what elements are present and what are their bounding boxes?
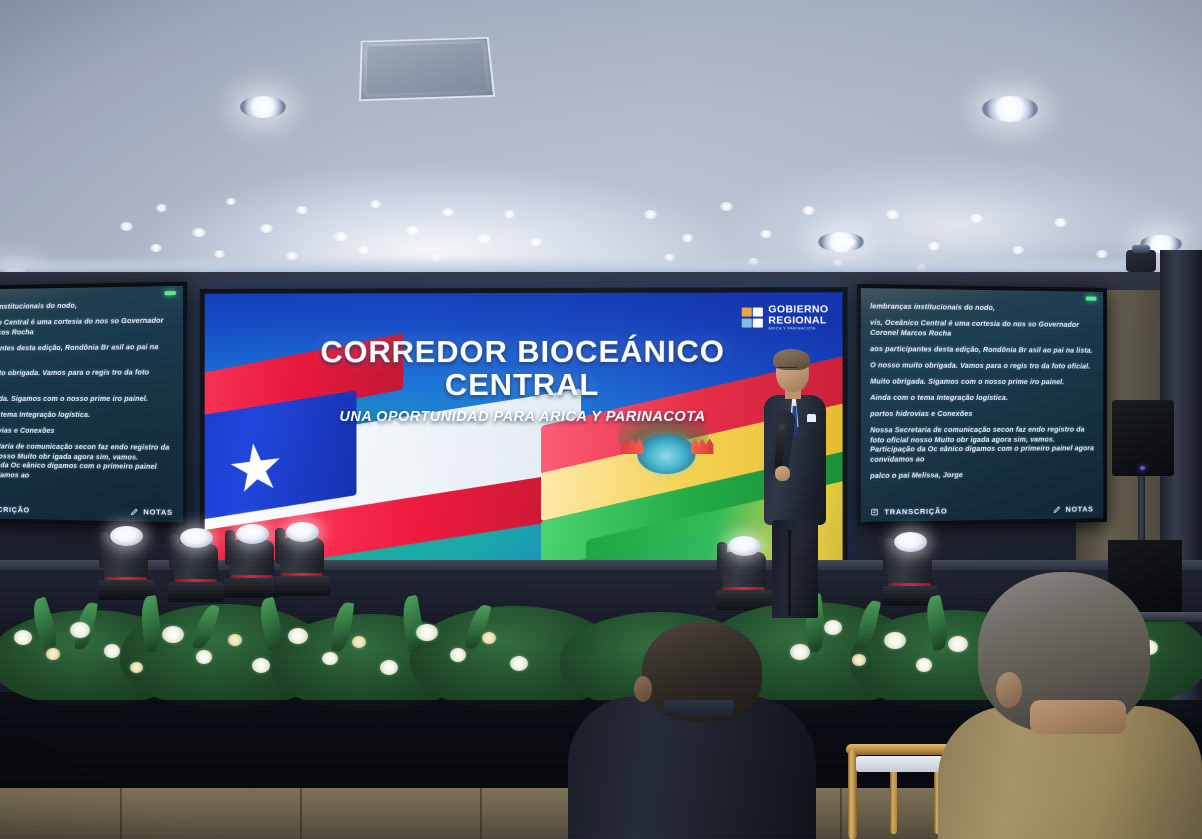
transcript-paragraph: aos participantes desta edição, Rondônia… bbox=[0, 343, 175, 364]
notes-button[interactable]: NOTAS bbox=[1053, 504, 1094, 513]
notes-label: NOTAS bbox=[143, 507, 172, 517]
transcript-paragraph: Ainda com o tema Integração logística. bbox=[0, 411, 175, 421]
transcription-screen-left[interactable]: lembranças institucionais do nodo, vis, … bbox=[0, 282, 187, 527]
moving-head-light bbox=[166, 526, 226, 602]
recording-indicator bbox=[1086, 297, 1097, 301]
logo-line2: REGIONAL bbox=[768, 315, 828, 326]
transcript-paragraph: O nosso muito obrigada. Vamos para o reg… bbox=[0, 369, 175, 389]
transcript-paragraph: lembranças institucionais do nodo, bbox=[0, 300, 175, 313]
audience-ear bbox=[996, 672, 1022, 708]
transcript-paragraph: vis, Oceânico Central é uma cortesia do … bbox=[0, 317, 175, 339]
presenter-pocket-square bbox=[807, 414, 816, 422]
audience-neck bbox=[1030, 700, 1126, 734]
conference-hall-scene: lembranças institucionais do nodo, vis, … bbox=[0, 0, 1202, 839]
transcription-label: TRANSCRIÇÃO bbox=[0, 505, 30, 515]
speaker-pole bbox=[1138, 474, 1145, 542]
pa-speaker-top bbox=[1112, 400, 1174, 476]
transcript-text-area: lembranças institucionais do nodo, vis, … bbox=[870, 302, 1095, 489]
audience-ear bbox=[634, 676, 652, 702]
pencil-icon bbox=[1053, 505, 1062, 514]
transcript-paragraph: Ainda com o tema Integração logística. bbox=[870, 394, 1095, 404]
transcript-paragraph: portos hidrovias e Conexões bbox=[0, 427, 175, 438]
transcript-paragraph: portos hidrovias e Conexões bbox=[870, 410, 1095, 420]
recording-indicator bbox=[165, 291, 176, 295]
transcript-paragraph: palco o pai Melissa, Jorge bbox=[870, 470, 1095, 482]
transcript-paragraph: Muito obrigada. Sigamos com o nosso prim… bbox=[0, 395, 175, 405]
transcript-footer-bar: TRANSCRIÇÃO NOTAS bbox=[871, 504, 1093, 516]
transcript-paragraph: O nosso muito obrigada. Vamos para o reg… bbox=[870, 361, 1095, 372]
transcript-paragraph: Nossa Secretaria de comunicação secon fa… bbox=[870, 426, 1095, 465]
pa-power-led bbox=[1140, 466, 1145, 470]
transcript-footer-bar: TRANSCRIÇÃO NOTAS bbox=[0, 504, 173, 517]
presenter-on-stage bbox=[760, 352, 836, 617]
transcript-paragraph: palco o pai Melissa, Jorge bbox=[0, 486, 175, 489]
moving-head-light bbox=[880, 530, 940, 606]
hvac-vent bbox=[359, 37, 495, 101]
slide-title-line1: CORREDOR BIOCEÁNICO bbox=[205, 334, 843, 368]
moving-head-light bbox=[96, 524, 156, 600]
presenter-leg-separation bbox=[788, 530, 791, 616]
transcription-button[interactable]: TRANSCRIÇÃO bbox=[871, 507, 947, 517]
transcript-paragraph: lembranças institucionais do nodo, bbox=[870, 302, 1095, 315]
ceiling-downlight bbox=[240, 96, 286, 118]
slide-subtitle: UNA OPORTUNIDAD PARA ARICA Y PARINACOTA bbox=[205, 409, 843, 425]
slide-title-line2: CENTRAL bbox=[205, 368, 843, 402]
ceiling-spotlight bbox=[1126, 250, 1156, 272]
audience-member-suit bbox=[556, 622, 816, 839]
logo-tiles-icon bbox=[742, 308, 764, 328]
logo-text-block: GOBIERNO REGIONAL ARICA Y PARINACOTA bbox=[768, 304, 828, 330]
transcript-paragraph: vis, Oceânico Central é uma cortesia do … bbox=[870, 319, 1095, 340]
transcription-screen-right[interactable]: lembranças institucionais do nodo, vis, … bbox=[857, 284, 1107, 526]
audience-collar bbox=[664, 700, 734, 716]
transcript-icon bbox=[871, 507, 880, 516]
transcript-paragraph: Muito obrigada. Sigamos com o nosso prim… bbox=[870, 377, 1095, 387]
transcript-text-area: lembranças institucionais do nodo, vis, … bbox=[0, 300, 175, 489]
notes-label: NOTAS bbox=[1066, 504, 1094, 513]
presenter-hand bbox=[775, 466, 790, 481]
transcription-button[interactable]: TRANSCRIÇÃO bbox=[0, 504, 30, 514]
eyeglasses-icon bbox=[776, 367, 798, 372]
transcript-paragraph: Nossa Secretaria de comunicação secon fa… bbox=[0, 442, 175, 482]
moving-head-light bbox=[272, 520, 332, 596]
slide-title-block: CORREDOR BIOCEÁNICO CENTRAL UNA OPORTUNI… bbox=[205, 334, 843, 425]
flag-coat-of-arms bbox=[637, 434, 695, 474]
ceiling-downlight bbox=[982, 96, 1038, 122]
notes-button[interactable]: NOTAS bbox=[130, 507, 173, 517]
ceiling-shading bbox=[0, 0, 1202, 300]
presenter-trousers bbox=[772, 520, 818, 618]
gobierno-regional-logo: GOBIERNO REGIONAL ARICA Y PARINACOTA bbox=[742, 304, 829, 330]
ceiling-downlight bbox=[818, 232, 864, 252]
pencil-icon bbox=[130, 507, 139, 516]
audience-member-uniform bbox=[938, 572, 1202, 839]
transcript-paragraph: aos participantes desta edição, Rondônia… bbox=[870, 345, 1095, 356]
logo-line3: ARICA Y PARINACOTA bbox=[768, 327, 828, 331]
transcription-label: TRANSCRIÇÃO bbox=[884, 507, 947, 517]
